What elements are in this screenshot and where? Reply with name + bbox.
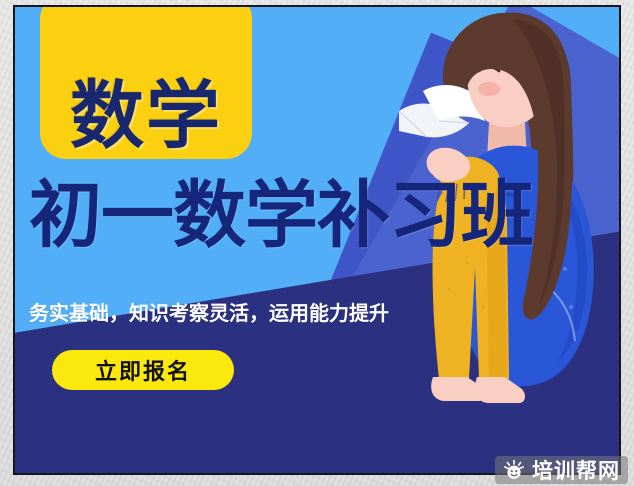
poster-root: 数学 初一数学补习班 务实基础，知识考察灵活，运用能力提升 立即报名 — [0, 0, 634, 486]
subject-badge: 数学 — [40, 7, 252, 159]
watermark: 培训帮网 — [495, 456, 628, 484]
poster-frame: 数学 初一数学补习班 务实基础，知识考察灵活，运用能力提升 立即报名 — [13, 5, 621, 475]
watermark-label: 培训帮网 — [532, 455, 620, 485]
poster-headline: 初一数学补习班 — [29, 179, 617, 252]
poster-subtitle: 务实基础，知识考察灵活，运用能力提升 — [29, 301, 389, 325]
enroll-now-button[interactable]: 立即报名 — [52, 350, 234, 390]
subject-badge-label: 数学 — [70, 80, 222, 153]
enroll-now-button-label: 立即报名 — [95, 354, 191, 386]
poster-canvas: 数学 初一数学补习班 务实基础，知识考察灵活，运用能力提升 立即报名 — [15, 7, 619, 473]
sun-smiley-icon — [503, 459, 525, 481]
background-navy-floor — [15, 221, 619, 473]
